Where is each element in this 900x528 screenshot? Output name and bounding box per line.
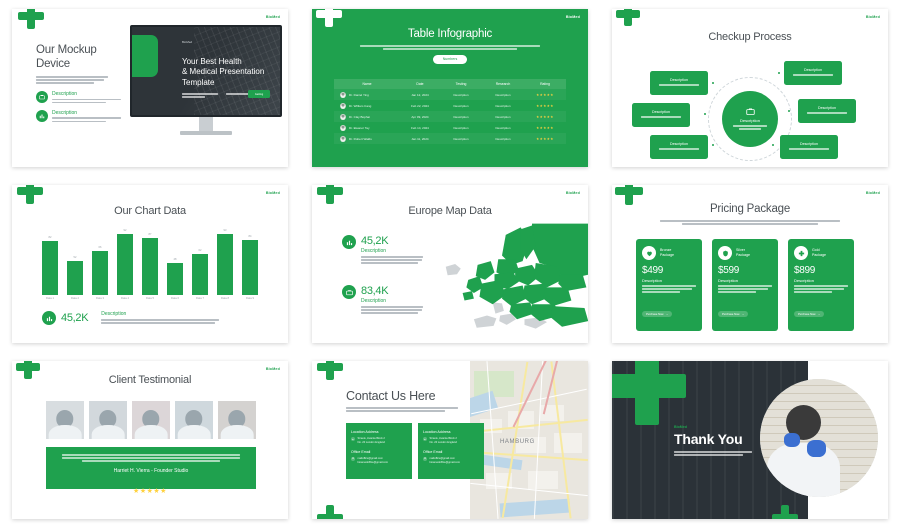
slide-chart-data[interactable]: BioMed Our Chart Data 825266928748629384…	[12, 185, 288, 343]
mail-icon: ✉	[351, 457, 355, 461]
contact-email-heading: Office Email	[418, 445, 484, 454]
table-row[interactable]: Dr. Clay BophaiApr 09, 2024DescriptionDe…	[334, 111, 566, 122]
purchase-now-button[interactable]: Purchase Now →	[794, 311, 824, 317]
table-cell-name: Dr. William Cang	[334, 103, 400, 109]
table-cell-research: Description	[482, 137, 524, 141]
screen-headline-3: Template	[182, 78, 264, 88]
testimonial-photo	[132, 401, 170, 439]
pin-icon: ●	[351, 437, 355, 441]
contact-location-heading: Location Address	[418, 423, 484, 434]
thank-you-photo	[760, 379, 878, 497]
chart-icon	[42, 311, 56, 325]
page-title: Our Chart Data	[12, 205, 288, 217]
table-cell-testing: Description	[440, 126, 482, 130]
cross-logo-icon	[616, 9, 640, 26]
map-stat-label: Description	[361, 298, 423, 304]
cross-logo-icon	[317, 185, 343, 204]
feature-item-0[interactable]: Description	[36, 91, 121, 105]
process-node-5[interactable]: Description	[780, 135, 838, 159]
slide-client-testimonial[interactable]: BioMed Client Testimonial Harriet H. Vie…	[12, 361, 288, 519]
contact-address: Streets, Avianta Block 2 No. 20 London E…	[430, 437, 457, 445]
slide-grid: BioMed Our Mockup Device Description	[0, 0, 900, 528]
body-text	[36, 76, 108, 84]
bar-value-label: 84	[249, 235, 252, 238]
testimonial-photo	[218, 401, 256, 439]
brand-label: BioMed	[866, 191, 880, 195]
map-stat-0: 45,2K Description	[342, 235, 423, 266]
table-cell-testing: Description	[440, 115, 482, 119]
table-cell-rating: ★★★★★	[524, 115, 566, 119]
page-title: Europe Map Data	[312, 205, 588, 217]
bar-value-label: 48	[174, 258, 177, 261]
screen-headline-1: Your Best Health	[182, 57, 264, 67]
table-cell-name: Dr. Robert Walds	[334, 136, 400, 142]
briefcase-icon	[36, 91, 48, 103]
body-text	[360, 45, 540, 50]
pricing-desc-text	[636, 283, 702, 293]
testimonial-photo	[46, 401, 84, 439]
shield-icon	[718, 246, 732, 260]
table-header-row: Name Date Testing Research Rating	[334, 79, 566, 89]
pricing-cards: Bronze Package $499 Description Purchase…	[636, 239, 854, 331]
feature-label: Description	[52, 91, 121, 97]
slide-cell-europe-map-data[interactable]: BioMed Europe Map Data 45,2K Description	[300, 176, 600, 352]
process-node-3[interactable]: Description	[784, 61, 842, 85]
avatar	[340, 125, 346, 131]
pricing-card-silver[interactable]: Silver Package $599 Description Purchase…	[712, 239, 778, 331]
chart-icon	[342, 235, 356, 249]
page-title-line2: Device	[36, 57, 121, 71]
bar-category-label: Data 8	[217, 297, 233, 300]
table-cell-research: Description	[482, 126, 524, 130]
pricing-tier: Gold Package	[812, 248, 826, 258]
testimonial-photo	[89, 401, 127, 439]
cross-logo-icon	[615, 185, 643, 205]
screen-headline-2: & Medical Presentation	[182, 67, 264, 77]
map-stat-label: Description	[361, 248, 423, 254]
page-title: Contact Us Here	[346, 389, 435, 403]
table-cell-date: Apr 09, 2024	[400, 115, 440, 119]
bar: 84	[242, 240, 258, 295]
data-table: Name Date Testing Research Rating Dr. Da…	[334, 79, 566, 144]
table-row[interactable]: Dr. William CangFeb 22, 2024DescriptionD…	[334, 100, 566, 111]
testimonial-quote-box: Harriet H. Vierra - Founder Studio	[46, 447, 256, 489]
feature-label: Description	[52, 110, 121, 116]
body-text	[674, 451, 752, 457]
page-title: Thank You	[674, 431, 742, 447]
process-node-label: Description	[804, 68, 822, 72]
brand-label: BioMed	[266, 367, 280, 371]
table-cell-research: Description	[482, 104, 524, 108]
contact-address-line2: No. 20 London England	[358, 441, 385, 445]
purchase-now-label: Purchase Now	[798, 313, 815, 316]
feature-text	[52, 117, 121, 122]
table-cell-name-text: Dr. Clay Bophai	[349, 115, 370, 119]
monitor-mockup: BioMed Your Best Health & Medical Presen…	[130, 25, 282, 135]
slide-cell-checkup-process[interactable]: BioMed Checkup Process Description Descr…	[600, 0, 900, 176]
arrow-right-icon: →	[817, 313, 820, 316]
slide-europe-map-data[interactable]: BioMed Europe Map Data 45,2K Description	[312, 185, 588, 343]
medical-icon	[794, 246, 808, 260]
bar-chart: 825266928748629384	[42, 229, 258, 295]
arrow-right-icon: →	[741, 313, 744, 316]
table-cell-name-text: Dr. Daniel Ying	[349, 93, 369, 97]
bar: 82	[42, 241, 58, 295]
purchase-now-button[interactable]: Purchase Now →	[718, 311, 748, 317]
contact-email-line2: bioamedoffice@gmail.com	[358, 461, 389, 465]
map-stat-text	[361, 256, 423, 264]
pricing-desc-label: Description	[712, 276, 778, 283]
table-cell-testing: Description	[440, 104, 482, 108]
cross-logo-icon	[18, 9, 44, 29]
table-row[interactable]: Dr. Eleanor TayFeb 14, 2024DescriptionDe…	[334, 122, 566, 133]
testimonial-quote-text	[46, 447, 256, 462]
briefcase-icon	[746, 107, 755, 116]
slide-cell-client-testimonial[interactable]: BioMed Client Testimonial Harriet H. Vie…	[0, 352, 300, 528]
table-row[interactable]: Dr. Daniel YingJan 12, 2024DescriptionDe…	[334, 89, 566, 100]
avatar	[340, 114, 346, 120]
arrow-right-icon: →	[665, 313, 668, 316]
feature-text	[52, 99, 121, 104]
purchase-now-label: Purchase Now	[646, 313, 663, 316]
bar-value-label: 82	[49, 236, 52, 239]
slide-pricing-package[interactable]: BioMed Pricing Package Bronze Package	[612, 185, 888, 343]
bar-category-label: Data 9	[242, 297, 258, 300]
bar-category-label: Data 6	[167, 297, 183, 300]
briefcase-icon	[342, 285, 356, 299]
cross-logo-icon-bottom	[772, 505, 798, 519]
stat-value: 45,2K	[61, 312, 88, 324]
process-center-text	[733, 125, 767, 131]
process-node-label: Description	[670, 78, 688, 82]
heart-icon	[642, 246, 656, 260]
page-title: Checkup Process	[612, 31, 888, 43]
brand-label: BioMed	[266, 191, 280, 195]
table-cell-research: Description	[482, 115, 524, 119]
slide-contact-us[interactable]: HAMBURG Contact Us Here Location Address…	[312, 361, 588, 519]
page-title-line1: Our Mockup	[36, 43, 121, 57]
process-node-1[interactable]: Description	[632, 103, 690, 127]
table-cell-testing: Description	[440, 93, 482, 97]
pricing-price: $599	[712, 260, 778, 276]
bar-category-label: Data 2	[67, 297, 83, 300]
contact-address: Streets, Avianta Block 2 No. 20 London E…	[358, 437, 385, 445]
pricing-price: $899	[788, 260, 854, 276]
slide-cell-table-infographic[interactable]: BioMed Table Infographic Numbers Name Da…	[300, 0, 600, 176]
process-node-label: Description	[670, 142, 688, 146]
page-title: Pricing Package	[612, 203, 888, 215]
table-header-cell: Date	[400, 82, 440, 86]
pricing-tier-line2: Package	[660, 253, 674, 258]
table-header-cell: Name	[334, 82, 400, 86]
slide-checkup-process[interactable]: BioMed Checkup Process Description Descr…	[612, 9, 888, 167]
purchase-now-button[interactable]: Purchase Now →	[642, 311, 672, 317]
photo-strip	[46, 401, 256, 439]
pricing-desc-text	[712, 283, 778, 293]
bar: 48	[167, 263, 183, 295]
cross-logo-icon	[317, 361, 343, 380]
table-cell-name: Dr. Eleanor Tay	[334, 125, 400, 131]
monitor-screen: BioMed Your Best Health & Medical Presen…	[130, 25, 282, 117]
body-text	[346, 407, 458, 413]
bar-value-label: 66	[99, 246, 102, 249]
process-center-label: Description	[740, 118, 760, 123]
stat-text	[101, 319, 219, 324]
pricing-card-bronze[interactable]: Bronze Package $499 Description Purchase…	[636, 239, 702, 331]
brand-label: BioMed	[566, 15, 580, 19]
table-row[interactable]: Dr. Robert WaldsJan 11, 2024DescriptionD…	[334, 133, 566, 144]
brand-label: BioMed	[266, 15, 280, 19]
europe-map	[442, 219, 588, 337]
pricing-desc-text	[788, 283, 854, 293]
bar-category-label: Data 7	[192, 297, 208, 300]
process-center[interactable]: Description	[722, 91, 778, 147]
process-node-label: Description	[818, 106, 836, 110]
feature-item-1[interactable]: Description	[36, 110, 121, 124]
table-cell-name: Dr. Daniel Ying	[334, 92, 400, 98]
bar-chart-x-labels: Data 1Data 2Data 3Data 4Data 5Data 6Data…	[42, 297, 258, 300]
cross-logo-icon	[316, 9, 342, 27]
slide-mockup-device[interactable]: BioMed Our Mockup Device Description	[12, 9, 288, 167]
pricing-tier: Bronze Package	[660, 248, 674, 258]
table-cell-date: Feb 14, 2024	[400, 126, 440, 130]
page-title: Table Infographic	[312, 28, 588, 40]
bar: 52	[67, 261, 83, 295]
table-header-cell: Testing	[440, 82, 482, 86]
pricing-card-gold[interactable]: Gold Package $899 Description Purchase N…	[788, 239, 854, 331]
bar: 66	[92, 251, 108, 295]
brand-label: BioMed	[566, 191, 580, 195]
slide-cell-thank-you[interactable]: BioMed Thank You	[600, 352, 900, 528]
pricing-tier-line2: Package	[736, 253, 750, 258]
brand-label: BioMed	[866, 15, 880, 19]
testimonial-author: Harriet H. Vierra - Founder Studio	[46, 468, 256, 474]
cross-logo-icon-bottom	[317, 505, 343, 519]
table-cell-date: Feb 22, 2024	[400, 104, 440, 108]
contact-email: mailoffice@gmail.com bioamedoffice@gmail…	[358, 457, 389, 465]
table-cell-date: Jan 12, 2024	[400, 93, 440, 97]
process-node-0[interactable]: Description	[650, 71, 708, 95]
contact-address-line2: No. 20 London England	[430, 441, 457, 445]
contact-card-1[interactable]: Location Address ● Streets, Avianta Bloc…	[418, 423, 484, 479]
contact-email: mailoffice@gmail.com bioamedoffice@gmail…	[430, 457, 461, 465]
bar: 87	[142, 238, 158, 295]
bar-value-label: 92	[124, 229, 127, 232]
mail-icon: ✉	[423, 457, 427, 461]
bar: 93	[217, 234, 233, 295]
numbers-button[interactable]: Numbers	[433, 55, 467, 64]
contact-location-heading: Location Address	[346, 423, 412, 434]
avatar	[340, 103, 346, 109]
screen-subtext	[182, 93, 218, 99]
contact-email-line2: bioamedoffice@gmail.com	[430, 461, 461, 465]
rating-stars: ★★★★★	[12, 487, 288, 495]
bar-value-label: 93	[224, 229, 227, 232]
slide-table-infographic[interactable]: BioMed Table Infographic Numbers Name Da…	[312, 9, 588, 167]
table-cell-name-text: Dr. William Cang	[349, 104, 371, 108]
pricing-price: $499	[636, 260, 702, 276]
screen-subtext-2	[226, 93, 250, 96]
avatar	[340, 136, 346, 142]
page-title: Client Testimonial	[12, 374, 288, 386]
bar: 62	[192, 254, 208, 295]
map-stat-text	[361, 306, 423, 314]
cross-logo-icon	[612, 361, 686, 425]
pricing-tier-line2: Package	[812, 253, 826, 258]
body-text	[660, 220, 840, 225]
bar-value-label: 52	[74, 256, 77, 259]
cross-logo-icon	[16, 361, 40, 379]
location-map[interactable]: HAMBURG	[470, 361, 588, 519]
process-node-label: Description	[800, 142, 818, 146]
slide-thank-you[interactable]: BioMed Thank You	[612, 361, 888, 519]
thank-you-brand: BioMed	[674, 425, 687, 429]
pin-icon: ●	[423, 437, 427, 441]
bar-category-label: Data 4	[117, 297, 133, 300]
slide-cell-contact-us[interactable]: HAMBURG Contact Us Here Location Address…	[300, 352, 600, 528]
process-node-4[interactable]: Description	[798, 99, 856, 123]
map-stat-value: 45,2K	[361, 235, 423, 247]
purchase-now-label: Purchase Now	[722, 313, 739, 316]
table-cell-research: Description	[482, 93, 524, 97]
table-cell-name: Dr. Clay Bophai	[334, 114, 400, 120]
screen-brand: BioMed	[182, 40, 192, 44]
table-body: Dr. Daniel YingJan 12, 2024DescriptionDe…	[334, 89, 566, 144]
process-node-2[interactable]: Description	[650, 135, 708, 159]
contact-card-0[interactable]: Location Address ● Streets, Avianta Bloc…	[346, 423, 412, 479]
table-header-cell: Rating	[524, 82, 566, 86]
table-cell-name-text: Dr. Eleanor Tay	[349, 126, 369, 130]
contact-email-heading: Office Email	[346, 445, 412, 454]
testimonial-photo	[175, 401, 213, 439]
avatar	[340, 92, 346, 98]
slide-cell-chart-data[interactable]: BioMed Our Chart Data 825266928748629384…	[0, 176, 300, 352]
bar: 92	[117, 234, 133, 295]
table-cell-rating: ★★★★★	[524, 137, 566, 141]
bar-value-label: 87	[149, 233, 152, 236]
bar-category-label: Data 3	[92, 297, 108, 300]
cross-logo-icon	[17, 185, 43, 204]
table-cell-name-text: Dr. Robert Walds	[349, 137, 372, 141]
process-node-label: Description	[652, 110, 670, 114]
bar-category-label: Data 1	[42, 297, 58, 300]
page-title: Our Mockup Device	[36, 43, 121, 71]
table-cell-rating: ★★★★★	[524, 126, 566, 130]
slide-cell-pricing-package[interactable]: BioMed Pricing Package Bronze Package	[600, 176, 900, 352]
pricing-tier: Silver Package	[736, 248, 750, 258]
stat-label: Description	[101, 311, 219, 317]
slide-cell-mockup-device[interactable]: BioMed Our Mockup Device Description	[0, 0, 300, 176]
map-stat-1: 83,4K Description	[342, 285, 423, 316]
table-cell-rating: ★★★★★	[524, 104, 566, 108]
stat-block: 45,2K Description	[42, 311, 219, 325]
bar-value-label: 62	[199, 249, 202, 252]
map-city-label: HAMBURG	[500, 439, 535, 445]
pricing-desc-label: Description	[788, 276, 854, 283]
chart-icon	[36, 110, 48, 122]
table-header-cell: Research	[482, 82, 524, 86]
map-stat-value: 83,4K	[361, 285, 423, 297]
table-cell-testing: Description	[440, 137, 482, 141]
screen-cta-button[interactable]: Getting	[248, 90, 270, 98]
bar-category-label: Data 5	[142, 297, 158, 300]
table-cell-date: Jan 11, 2024	[400, 137, 440, 141]
table-cell-rating: ★★★★★	[524, 93, 566, 97]
pricing-desc-label: Description	[636, 276, 702, 283]
